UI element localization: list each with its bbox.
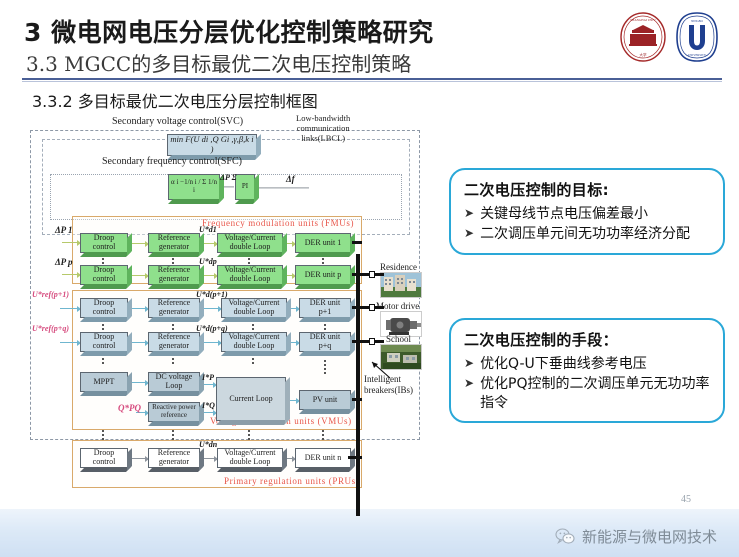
university-logos: SHANGHAI UNIV 大学 NINGBO UNIVERSITY	[615, 9, 725, 65]
vmu-p1-voltage-current-loop[interactable]: Voltage/Current double Loop	[221, 298, 287, 318]
breaker-pointer-icon	[368, 360, 392, 380]
intelligent-breaker[interactable]	[369, 304, 375, 311]
signal-u-dpq: U*d(p+q)	[196, 324, 228, 333]
ellipsis-vertical	[248, 430, 250, 440]
block-label: Droop control	[93, 234, 116, 252]
block-label: DER unit 1	[305, 239, 341, 248]
callout-list-item: ➤ 优化Q-U下垂曲线参考电压	[464, 355, 713, 373]
fmu-group-label: Frequency modulation units (FMUs)	[202, 218, 354, 228]
bus-stub-vmup1	[352, 306, 384, 309]
callout-list-item: ➤ 二次调压单元间无功功率经济分配	[464, 225, 713, 243]
ellipsis-vertical	[172, 430, 174, 440]
block-label: Droop control	[93, 266, 116, 284]
callout-item-text: 优化Q-U下垂曲线参考电压	[480, 355, 713, 373]
pru-group-label: Primary regulation units (PRUs)	[224, 476, 359, 486]
bus-stub-fmu1	[352, 241, 362, 244]
block-label: Voltage/Current double Loop	[225, 449, 276, 467]
pv-mppt-block[interactable]: MPPT	[80, 372, 128, 392]
section-title: 3.3 MGCC的多目标最优二次电压控制策略	[26, 48, 411, 77]
fmup-droop-control[interactable]: Droop control	[80, 265, 128, 285]
bus-stub-fmup	[352, 273, 384, 276]
pru-voltage-current-loop[interactable]: Voltage/Current double Loop	[217, 448, 283, 468]
block-label: DC voltage Loop	[156, 373, 193, 391]
subsection-title: 3.3.2 多目标最优二次电压分层控制框图	[32, 88, 318, 112]
arrow-urefp1-in	[60, 308, 78, 309]
block-label: MPPT	[94, 378, 115, 387]
block-label: DER unit p+1	[310, 299, 340, 317]
fmu1-der-unit[interactable]: DER unit 1	[295, 233, 351, 253]
svc-objective-text: min F(U di ,Q Gi ,γ,β,k i )	[170, 135, 254, 154]
block-label: PV unit	[313, 396, 338, 405]
pv-dc-voltage-loop-block[interactable]: DC voltage Loop	[148, 372, 200, 392]
svc-objective-block[interactable]: min F(U di ,Q Gi ,γ,β,k i )	[167, 134, 257, 156]
signal-u-d1: U*d1	[199, 225, 217, 234]
fmup-reference-generator[interactable]: Reference generator	[148, 265, 200, 285]
signal-u-dn: U*dn	[199, 440, 217, 449]
load-label-residence: Residence	[380, 262, 417, 272]
svg-text:NINGBO: NINGBO	[691, 19, 703, 23]
load-label-school: School	[386, 334, 411, 344]
university-seal-blue-icon: NINGBO UNIVERSITY	[673, 11, 721, 63]
block-label: Reference generator	[158, 266, 190, 284]
vmu-pq-der-unit[interactable]: DER unit p+q	[299, 332, 351, 352]
callout-item-text: 优化PQ控制的二次调压单元无功功率指令	[480, 375, 713, 412]
block-label: DER unit n	[305, 454, 341, 463]
footer-watermark: 新能源与微电网技术	[555, 526, 717, 547]
block-label: Reference generator	[158, 234, 190, 252]
sfc-pi-block[interactable]: PI	[235, 174, 255, 200]
callout-item-text: 二次调压单元间无功功率经济分配	[480, 225, 713, 243]
lbcl-caption: Low-bandwidth communication links(LBCL)	[296, 114, 350, 143]
arrow-vmu-p1-b	[202, 308, 219, 309]
title-divider	[22, 78, 722, 80]
vmu-p1-der-unit[interactable]: DER unit p+1	[299, 298, 351, 318]
pv-unit-block[interactable]: PV unit	[299, 390, 351, 410]
block-label: DER unit p+q	[310, 333, 340, 351]
fmu1-droop-control[interactable]: Droop control	[80, 233, 128, 253]
block-label: Droop control	[93, 299, 116, 317]
svg-text:SHANGHAI UNIV: SHANGHAI UNIV	[630, 18, 656, 22]
arrow-fmu1-a	[130, 243, 146, 244]
residence-thumbnail	[380, 272, 422, 298]
ac-bus-bar	[356, 254, 360, 516]
signal-i-q: I*Q	[202, 401, 215, 410]
arrow-pru-a	[130, 458, 146, 459]
fmu1-reference-generator[interactable]: Reference generator	[148, 233, 200, 253]
signal-delta-f: Δf	[286, 174, 295, 184]
block-label: Voltage/Current double Loop	[229, 299, 280, 317]
arrow-vmu-pq-a	[130, 342, 146, 343]
svc-caption: Secondary voltage control(SVC)	[112, 116, 243, 128]
callout-item-text: 关键母线节点电压偏差最小	[480, 205, 713, 223]
pru-droop-control[interactable]: Droop control	[80, 448, 128, 468]
pru-reference-generator[interactable]: Reference generator	[148, 448, 200, 468]
block-label: Voltage/Current double Loop	[225, 266, 276, 284]
block-label: Reference generator	[158, 449, 190, 467]
pru-der-unit[interactable]: DER unit n	[295, 448, 351, 468]
arrow-mppt-to-dcloop	[130, 382, 146, 383]
sfc-droop-share-text: α i −1/n i / Σ 1/n i	[171, 179, 217, 195]
block-label: Reference generator	[158, 299, 190, 317]
block-label: Droop control	[93, 449, 116, 467]
block-label: Reactive power reference	[152, 404, 196, 420]
signal-delta-pp: ΔP p	[55, 257, 73, 267]
intelligent-breaker[interactable]	[369, 338, 375, 345]
arrow-dp1-in	[62, 242, 78, 243]
sfc-caption: Secondary frequency control(SFC)	[102, 156, 242, 168]
arrow-vmu-pq-b	[202, 342, 219, 343]
callout-title: 二次电压控制的手段：	[464, 329, 713, 350]
bus-stub-vmupq	[352, 340, 384, 343]
vmu-pq-droop-control[interactable]: Droop control	[80, 332, 128, 352]
bullet-arrow-icon: ➤	[464, 375, 474, 392]
arrow-urefpq-in	[60, 342, 78, 343]
signal-q-pq: Q*PQ	[118, 403, 141, 413]
vmu-pq-reference-generator[interactable]: Reference generator	[148, 332, 200, 352]
footer-watermark-text: 新能源与微电网技术	[582, 526, 717, 547]
signal-delta-p1: ΔP 1	[55, 225, 73, 235]
fmup-der-unit[interactable]: DER unit p	[295, 265, 351, 285]
page-title: 3 微电网电压分层优化控制策略研究	[24, 13, 434, 49]
sfc-droop-share-block[interactable]: α i −1/n i / Σ 1/n i	[168, 174, 220, 200]
signal-u-dp: U*dp	[199, 257, 217, 266]
control-block-diagram: Secondary voltage control(SVC) Secondary…	[24, 112, 442, 524]
vmu-p1-reference-generator[interactable]: Reference generator	[148, 298, 200, 318]
wechat-logo-icon	[555, 528, 575, 545]
arrow-dpp-in	[62, 274, 78, 275]
title-divider-secondary	[22, 81, 722, 82]
callout-control-means: 二次电压控制的手段： ➤ 优化Q-U下垂曲线参考电压 ➤ 优化PQ控制的二次调压…	[449, 318, 725, 423]
bus-stub-pv	[352, 398, 362, 401]
bus-stub-pru	[348, 456, 362, 459]
ellipsis-vertical	[322, 430, 324, 440]
block-label: Current Loop	[229, 395, 272, 404]
university-seal-red-icon: SHANGHAI UNIV 大学	[619, 11, 667, 63]
block-label: Droop control	[93, 333, 116, 351]
callout-list-item: ➤ 关键母线节点电压偏差最小	[464, 205, 713, 223]
intelligent-breaker[interactable]	[369, 271, 375, 278]
arrow-vmu-p1-a	[130, 308, 146, 309]
arrow-df-to-pi	[257, 187, 309, 188]
svg-text:UNIVERSITY: UNIVERSITY	[688, 53, 707, 57]
vmu-p1-droop-control[interactable]: Droop control	[80, 298, 128, 318]
block-label: Reference generator	[158, 333, 190, 351]
pv-reactive-power-reference-block[interactable]: Reactive power reference	[148, 402, 200, 422]
signal-uref-pq: U*ref(p+q)	[32, 324, 69, 333]
signal-i-p: I*P	[202, 373, 214, 382]
callout-title: 二次电压控制的目标:	[464, 179, 713, 200]
signal-u-dp1: U*d(p+1)	[196, 290, 228, 299]
ellipsis-vertical	[324, 360, 326, 374]
pv-current-loop-block[interactable]: Current Loop	[216, 377, 286, 421]
signal-delta-p-sum: ΔP Σ	[220, 173, 237, 182]
arrow-fmup-a	[130, 275, 146, 276]
sfc-pi-text: PI	[242, 183, 248, 191]
signal-uref-p1: U*ref(p+1)	[32, 290, 69, 299]
vmu-pq-voltage-current-loop[interactable]: Voltage/Current double Loop	[221, 332, 287, 352]
fmu1-voltage-current-loop[interactable]: Voltage/Current double Loop	[217, 233, 283, 253]
block-label: Voltage/Current double Loop	[229, 333, 280, 351]
ellipsis-vertical	[102, 430, 104, 440]
bullet-arrow-icon: ➤	[464, 205, 474, 222]
page-number: 45	[681, 494, 691, 505]
fmup-voltage-current-loop[interactable]: Voltage/Current double Loop	[217, 265, 283, 285]
bullet-arrow-icon: ➤	[464, 355, 474, 372]
block-label: Voltage/Current double Loop	[225, 234, 276, 252]
bullet-arrow-icon: ➤	[464, 225, 474, 242]
callout-list-item: ➤ 优化PQ控制的二次调压单元无功功率指令	[464, 375, 713, 412]
callout-control-goal: 二次电压控制的目标: ➤ 关键母线节点电压偏差最小 ➤ 二次调压单元间无功功率经…	[449, 168, 725, 255]
svg-text:大学: 大学	[639, 52, 647, 57]
block-label: DER unit p	[305, 271, 341, 280]
